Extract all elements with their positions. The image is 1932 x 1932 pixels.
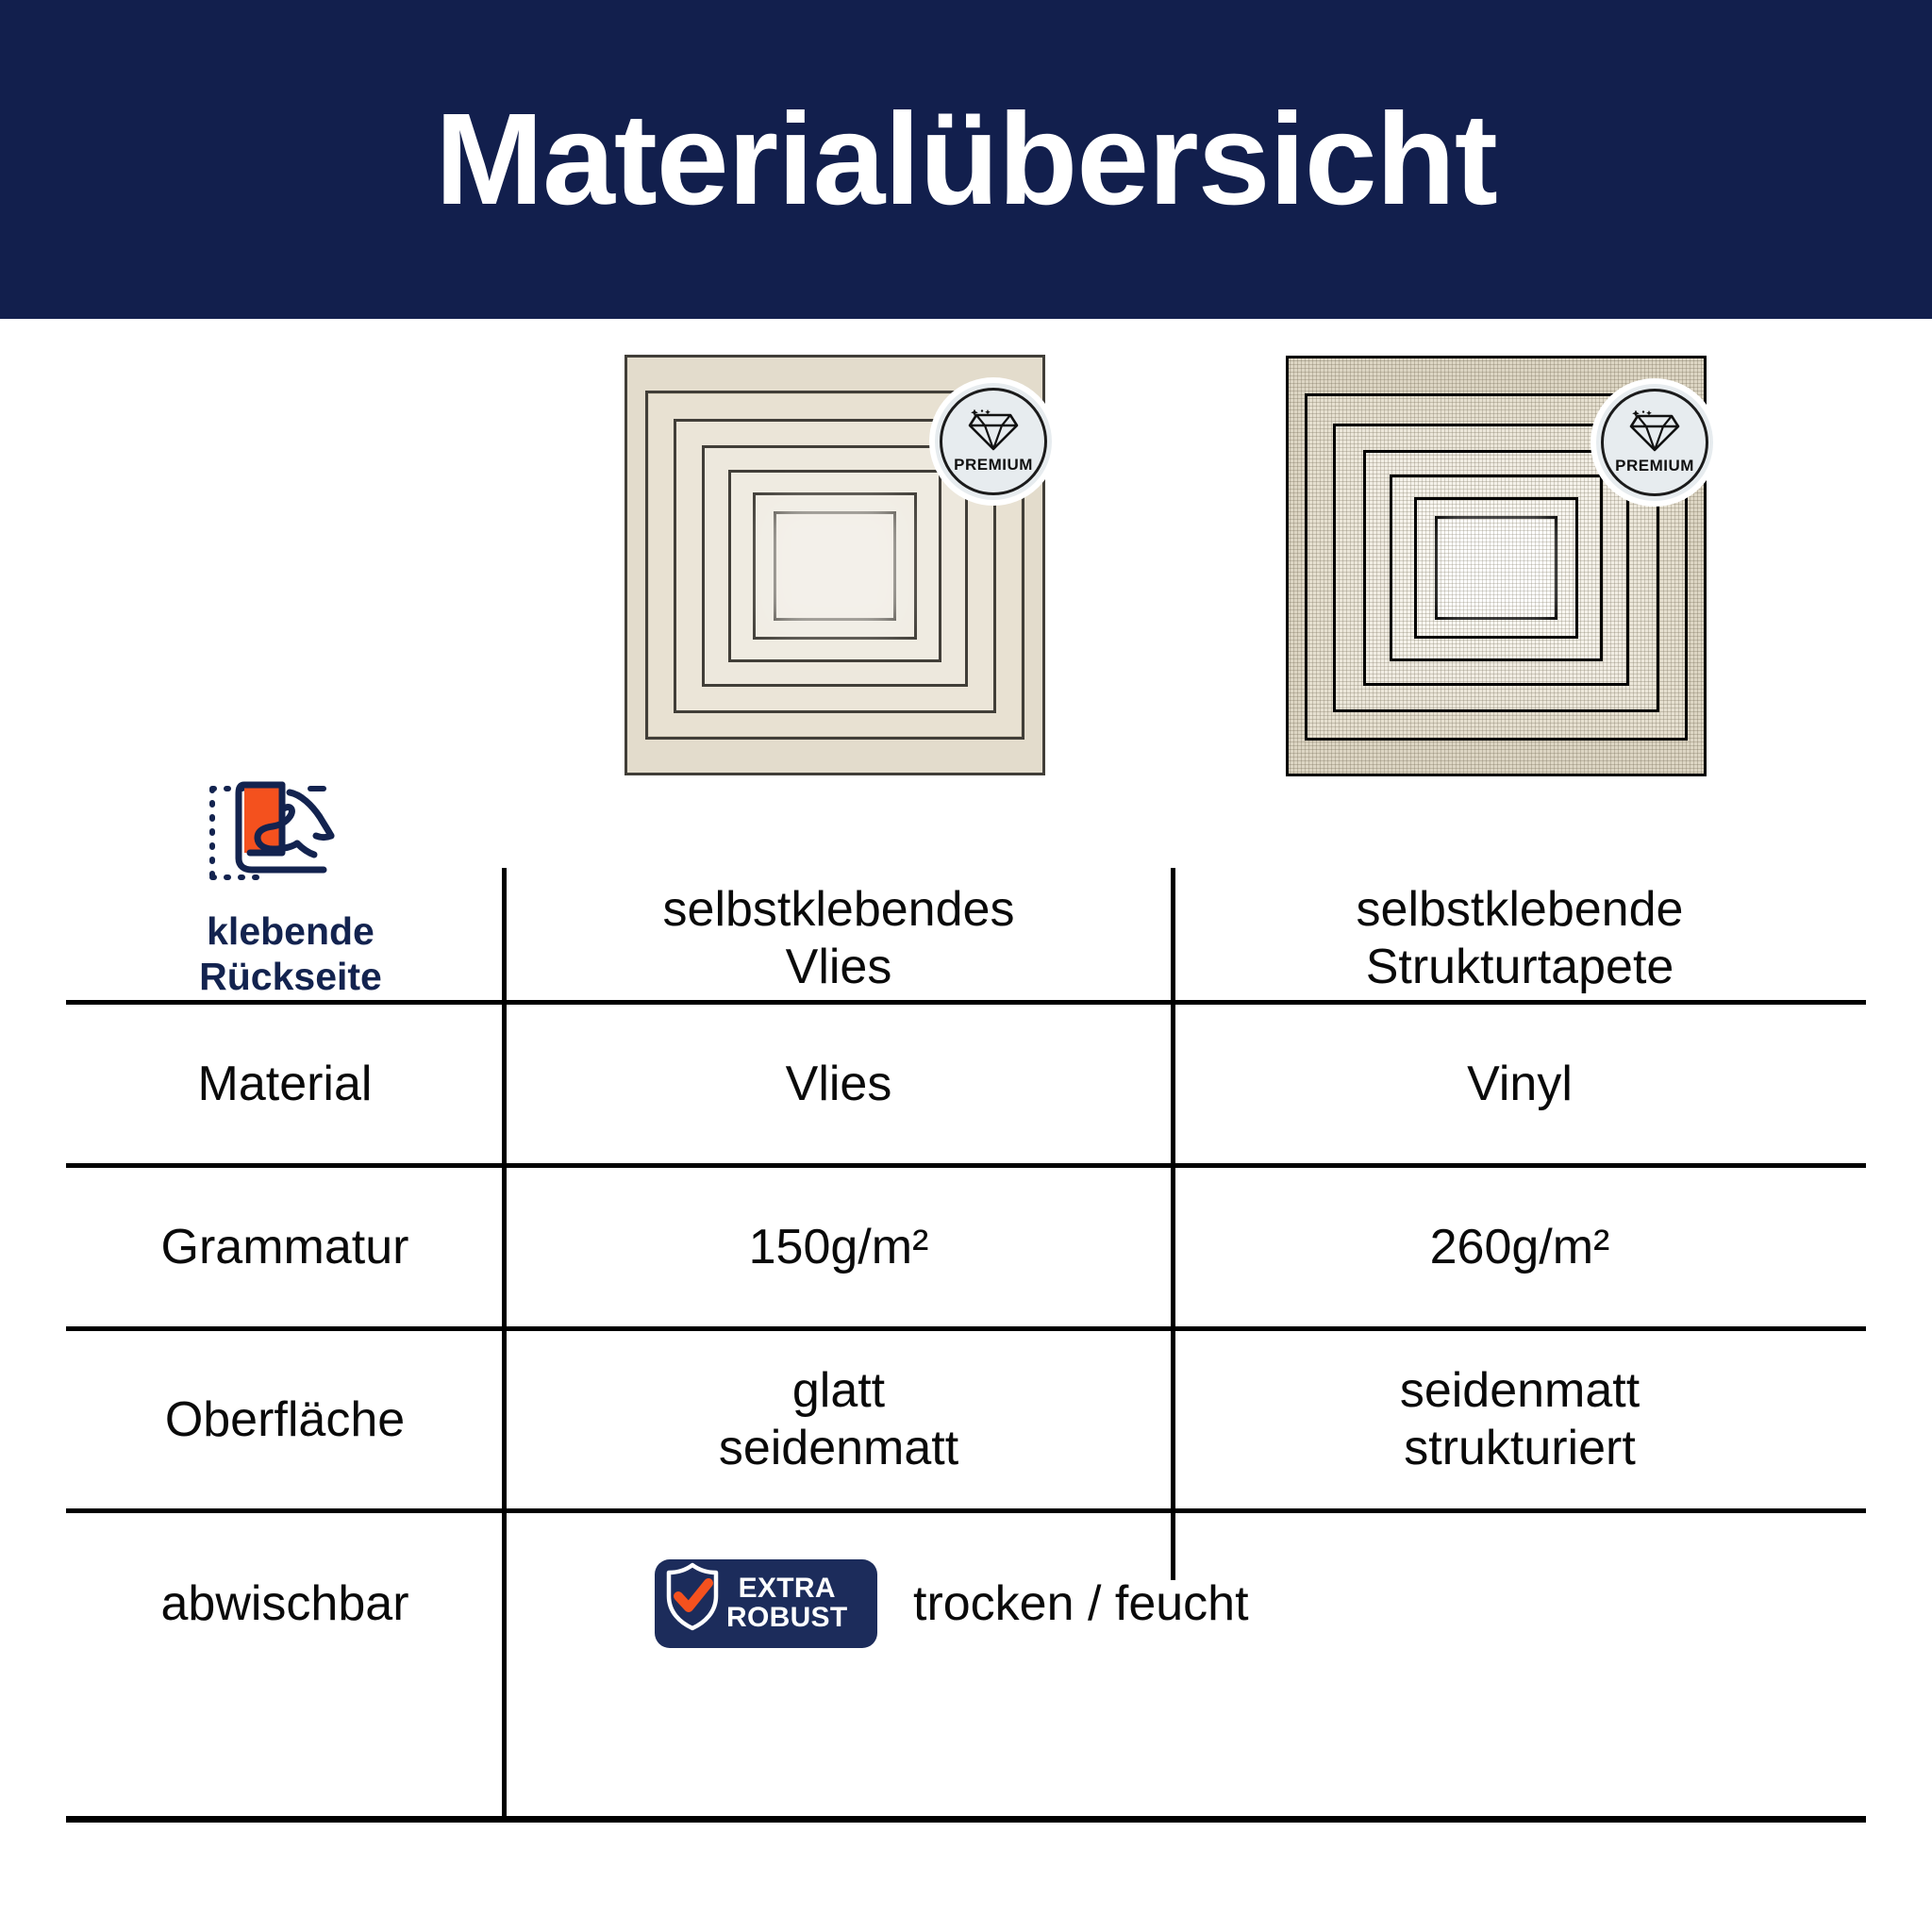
premium-badge: PREMIUM — [929, 377, 1058, 506]
row-label-blank — [66, 877, 504, 1003]
oberflaeche-b-line1: seidenmatt — [1174, 1362, 1866, 1420]
diamond-icon — [1629, 410, 1680, 454]
table-row: Material Vlies Vinyl — [66, 1003, 1866, 1166]
extra-robust-badge: EXTRA ROBUST — [655, 1559, 877, 1648]
cell-product-name-b: selbstklebende Strukturtapete — [1174, 877, 1866, 1003]
row-label-material: Material — [66, 1003, 504, 1166]
table-row: Grammatur 150g/m² 260g/m² — [66, 1166, 1866, 1329]
oberflaeche-a-line2: seidenmatt — [504, 1420, 1174, 1477]
cell-material-a: Vlies — [504, 1003, 1174, 1166]
cell-oberflaeche-a: glatt seidenmatt — [504, 1329, 1174, 1511]
material-spec-table: selbstklebendes Vlies selbstklebende Str… — [66, 877, 1866, 1694]
cell-material-b: Vinyl — [1174, 1003, 1866, 1166]
page-header: Materialübersicht — [0, 0, 1932, 319]
oberflaeche-a-line1: glatt — [504, 1362, 1174, 1420]
page-title: Materialübersicht — [435, 94, 1497, 225]
table-row: Oberfläche glatt seidenmatt seidenmatt s… — [66, 1329, 1866, 1511]
premium-badge-label: PREMIUM — [1615, 457, 1694, 475]
abwischbar-value: trocken / feucht — [913, 1575, 1249, 1633]
row-label-grammatur: Grammatur — [66, 1166, 504, 1329]
table-row: abwischbar EXTRA ROBUST — [66, 1511, 1866, 1695]
robust-badge-line1: EXTRA — [726, 1574, 847, 1604]
oberflaeche-b-line2: strukturiert — [1174, 1420, 1866, 1477]
product-name-b-line2: Strukturtapete — [1174, 939, 1866, 996]
row-label-abwischbar: abwischbar — [66, 1511, 504, 1695]
row-label-oberflaeche: Oberfläche — [66, 1329, 504, 1511]
premium-badge-label: PREMIUM — [954, 456, 1033, 475]
shield-check-icon — [664, 1562, 721, 1645]
cell-product-name-a: selbstklebendes Vlies — [504, 877, 1174, 1003]
robust-badge-line2: ROBUST — [726, 1604, 847, 1633]
product-name-a-line2: Vlies — [504, 939, 1174, 996]
cell-abwischbar-value: EXTRA ROBUST trocken / feucht — [504, 1511, 1866, 1695]
product-name-b-line1: selbstklebende — [1174, 881, 1866, 939]
cell-grammatur-b: 260g/m² — [1174, 1166, 1866, 1329]
product-name-a-line1: selbstklebendes — [504, 881, 1174, 939]
table-bottom-rule — [66, 1816, 1866, 1823]
premium-badge: PREMIUM — [1591, 378, 1719, 507]
table-row: selbstklebendes Vlies selbstklebende Str… — [66, 877, 1866, 1003]
diamond-icon — [968, 409, 1019, 453]
cell-oberflaeche-b: seidenmatt strukturiert — [1174, 1329, 1866, 1511]
cell-grammatur-a: 150g/m² — [504, 1166, 1174, 1329]
